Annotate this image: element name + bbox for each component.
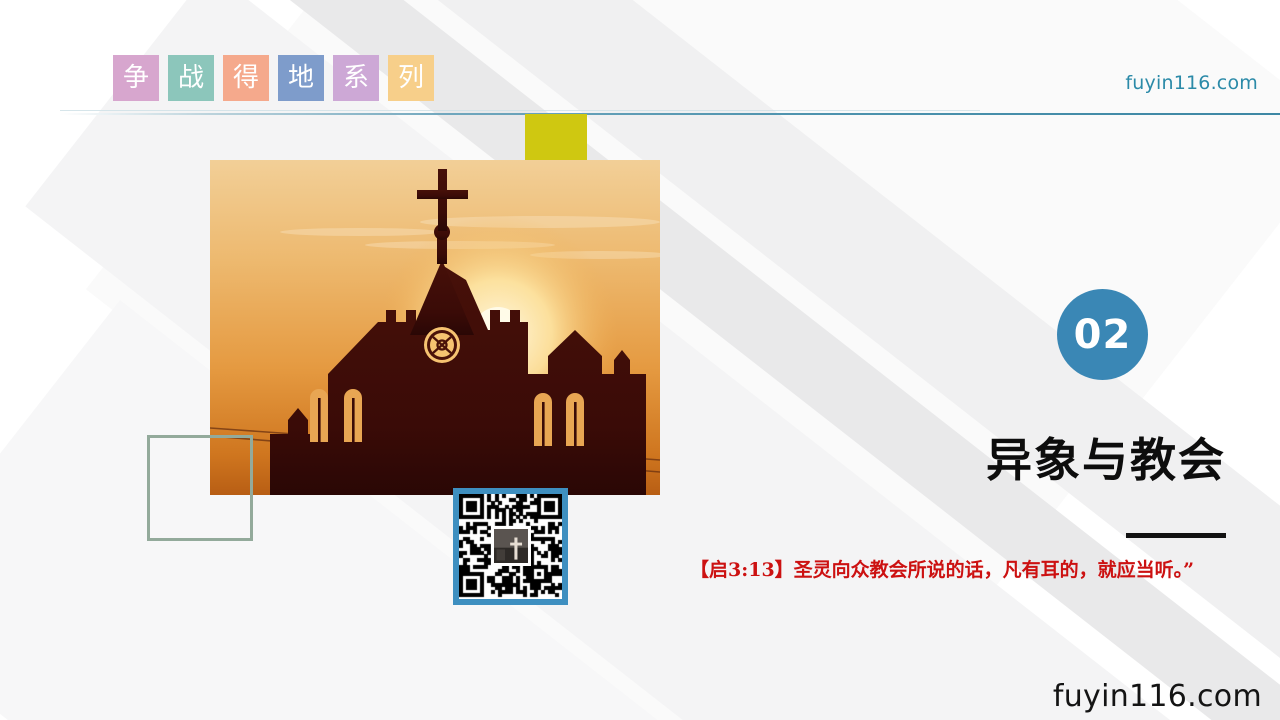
slide-canvas: 争 战 得 地 系 列 fuyin116.com: [0, 0, 1280, 720]
series-block-char-5: 列: [398, 65, 424, 91]
scripture-verse: 【启3:13】圣灵向众教会所说的话，凡有耳的，就应当听。”: [690, 557, 1235, 584]
qr-center-logo: [491, 526, 531, 566]
church-sunset-photo: [210, 160, 660, 495]
qr-code-matrix: [459, 494, 562, 599]
series-block-char-0: 争: [123, 65, 149, 91]
section-number-badge: 02: [1057, 289, 1148, 380]
series-title-blocks: 争 战 得 地 系 列: [113, 55, 434, 101]
series-block-4: 系: [333, 55, 379, 101]
title-underline-rule: [1126, 533, 1226, 538]
section-number-text: 02: [1074, 312, 1132, 358]
green-outline-square: [147, 435, 253, 541]
series-block-2: 得: [223, 55, 269, 101]
qr-center-cross-icon: [494, 529, 528, 563]
site-url-header[interactable]: fuyin116.com: [1125, 72, 1258, 94]
series-block-char-1: 战: [178, 65, 204, 91]
series-block-5: 列: [388, 55, 434, 101]
series-block-char-4: 系: [343, 65, 369, 91]
header-divider-thin: [60, 110, 980, 111]
series-block-0: 争: [113, 55, 159, 101]
church-sunset-illustration: [210, 160, 660, 495]
series-block-1: 战: [168, 55, 214, 101]
site-watermark: fuyin116.com: [1053, 679, 1262, 714]
series-block-char-2: 得: [233, 65, 259, 91]
qr-code[interactable]: [453, 488, 568, 605]
series-block-3: 地: [278, 55, 324, 101]
series-block-char-3: 地: [288, 65, 314, 91]
page-title: 异象与教会: [986, 424, 1226, 490]
header-divider: [60, 113, 1280, 115]
